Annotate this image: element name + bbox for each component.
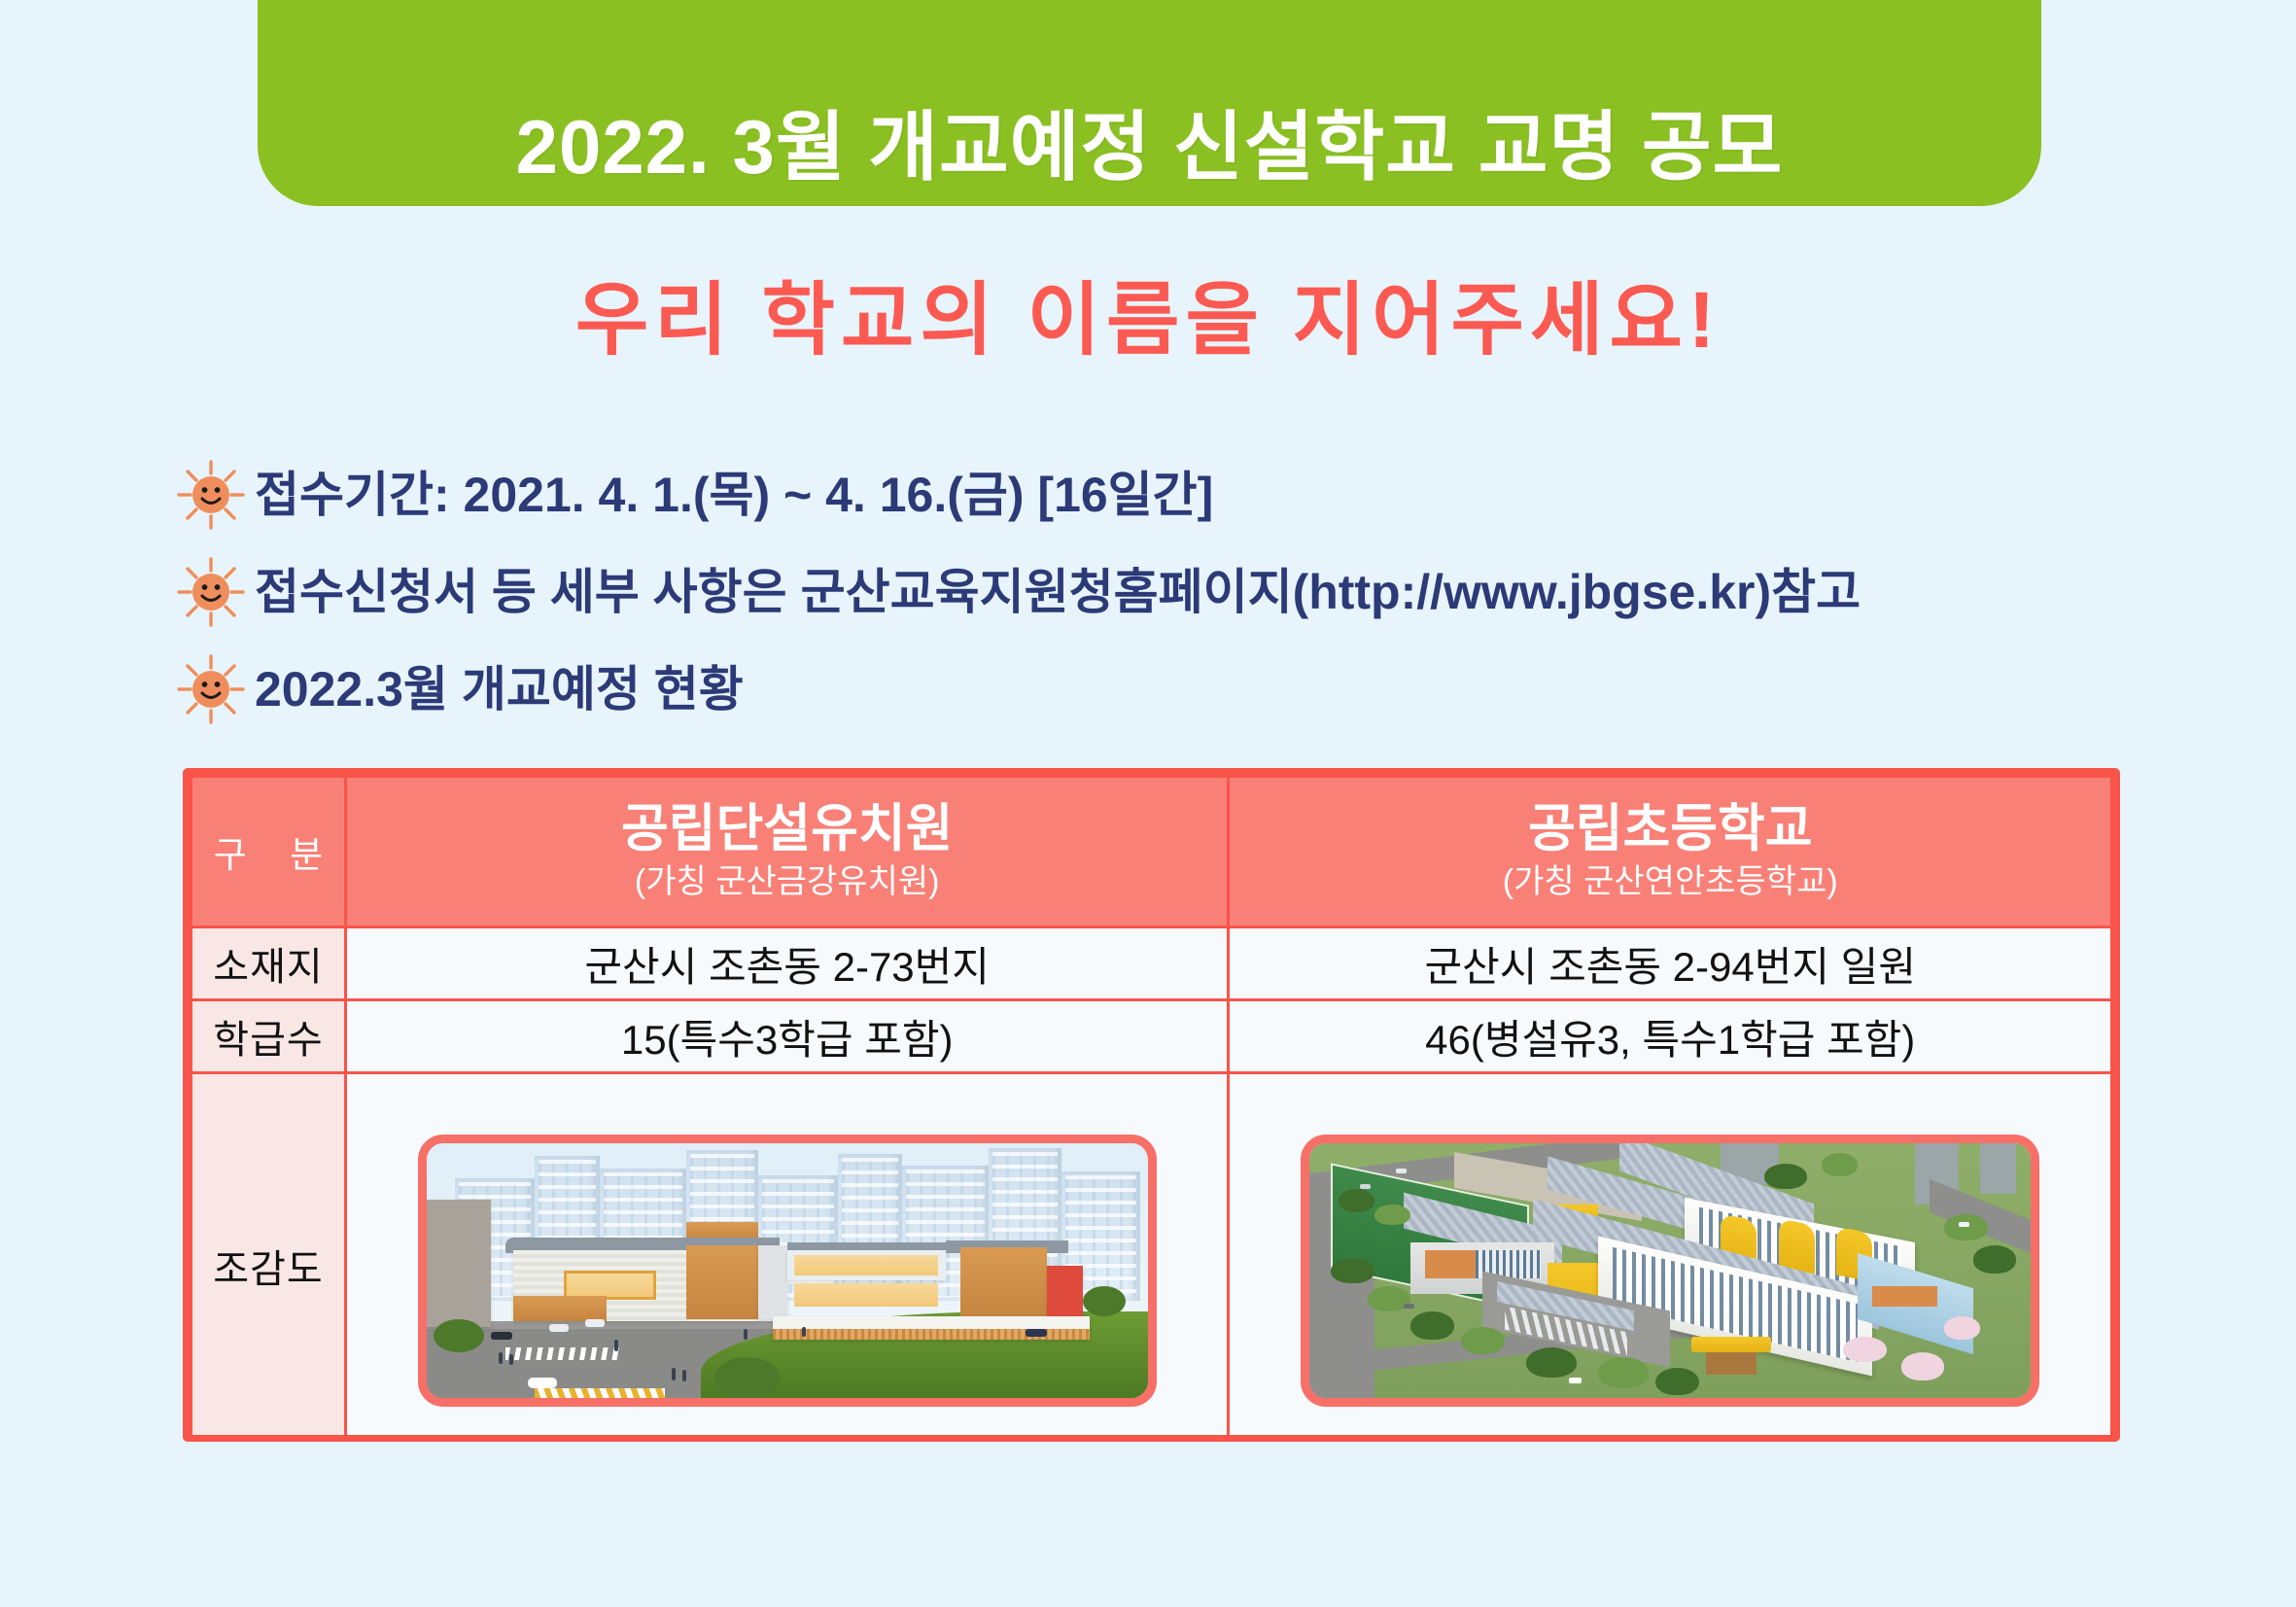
column-title: 공립단설유치원 [347,802,1228,856]
row-label-class-count: 학급수 [191,1000,346,1073]
table-row: 학급수 15(특수3학급 포함) 46(병설유3, 특수1학급 포함) [191,1000,2112,1073]
kindergarten-rendering [418,1135,1157,1407]
column-title: 공립초등학교 [1230,802,2110,856]
bullet-item-reception-period: 접수기간: 2021. 4. 1.(목) ~ 4. 16.(금) [16일간] [173,457,2214,533]
bullet-text: 접수신청서 등 세부 사항은 군산교육지원청홈페이지(http://www.jb… [255,568,1861,616]
headline-container: 우리 학교의 이름을 지어주세요! [0,277,2296,365]
table-header-label: 구 분 [191,777,346,927]
cell-class-count-elementary: 46(병설유3, 특수1학급 포함) [1229,1000,2112,1073]
sun-icon [173,459,249,531]
table-row: 소재지 군산시 조촌동 2-73번지 군산시 조촌동 2-94번지 일원 [191,927,2112,1000]
bullet-text: 접수기간: 2021. 4. 1.(목) ~ 4. 16.(금) [16일간] [255,471,1213,519]
table-row: 조감도 [191,1073,2112,1443]
column-subtitle: (가칭 군산연안초등학교) [1230,862,2110,902]
headline-text: 우리 학교의 이름을 지어주세요! [0,277,2296,365]
cell-location-elementary: 군산시 조촌동 2-94번지 일원 [1229,927,2112,1000]
sun-icon [173,653,249,725]
row-label-rendering: 조감도 [191,1073,346,1443]
bullet-list: 접수기간: 2021. 4. 1.(목) ~ 4. 16.(금) [16일간] [173,457,2214,749]
page-title: 2022. 3월 개교예정 신설학교 교명 공모 [516,109,1784,185]
bullet-text: 2022.3월 개교예정 현황 [255,665,744,714]
cell-rendering-elementary [1229,1073,2112,1443]
bullet-item-application-details: 접수신청서 등 세부 사항은 군산교육지원청홈페이지(http://www.jb… [173,554,2214,630]
sun-icon [173,556,249,628]
row-label-location: 소재지 [191,927,346,1000]
school-info-table: 구 분 공립단설유치원 (가칭 군산금강유치원) 공립초등학교 (가칭 군산연안… [183,768,2120,1442]
table-header-row: 구 분 공립단설유치원 (가칭 군산금강유치원) 공립초등학교 (가칭 군산연안… [191,777,2112,927]
column-subtitle: (가칭 군산금강유치원) [347,862,1228,902]
table-header-elementary: 공립초등학교 (가칭 군산연안초등학교) [1229,777,2112,927]
table-header-kindergarten: 공립단설유치원 (가칭 군산금강유치원) [345,777,1229,927]
header-banner: 2022. 3월 개교예정 신설학교 교명 공모 [258,0,2041,206]
cell-class-count-kindergarten: 15(특수3학급 포함) [345,1000,1229,1073]
elementary-rendering [1301,1135,2039,1407]
cell-rendering-kindergarten [345,1073,1229,1443]
bullet-item-opening-status: 2022.3월 개교예정 현황 [173,651,2214,727]
cell-location-kindergarten: 군산시 조촌동 2-73번지 [345,927,1229,1000]
